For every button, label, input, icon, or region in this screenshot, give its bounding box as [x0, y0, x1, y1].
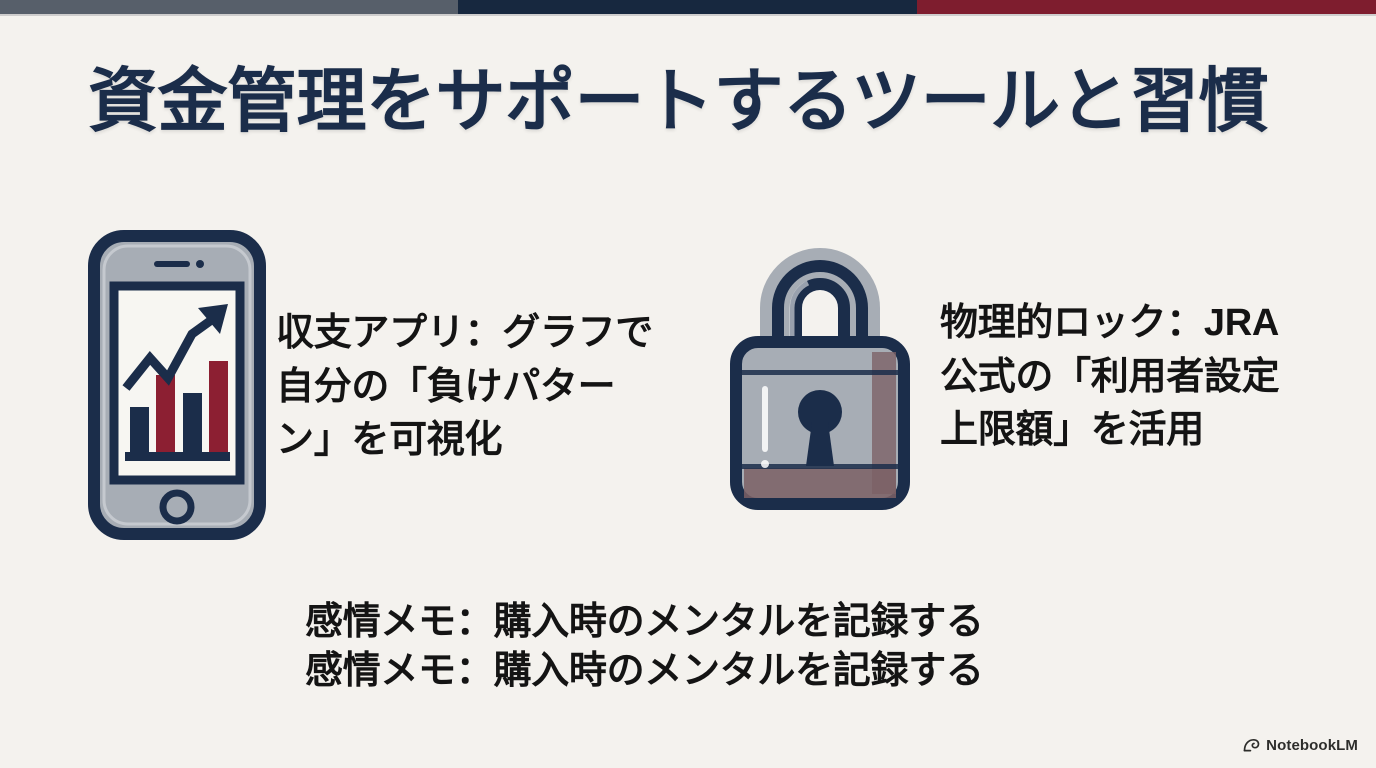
page-title: 資金管理をサポートするツールと習慣 [88, 64, 1308, 138]
top-accent-segment-red [917, 0, 1376, 14]
notes-block: 感情メモ：購入時のメンタルを記録する 感情メモ：購入時のメンタルを記録する [305, 598, 984, 697]
notebooklm-watermark: NotebookLM [1243, 737, 1358, 754]
top-accent-segment-navy [458, 0, 917, 14]
content-item-app: 収支アプリ：グラフで自分の「負けパターン」を可視化 [88, 230, 666, 545]
top-accent-bar [0, 0, 1376, 14]
notebooklm-spiral-icon [1243, 738, 1260, 753]
note-line-1: 感情メモ：購入時のメンタルを記録する [305, 598, 984, 647]
content-item-lock-text: 物理的ロック：JRA公式の「利用者設定上限額」を活用 [940, 297, 1290, 459]
slide-root: 資金管理をサポートするツールと習慣 [0, 0, 1376, 768]
top-accent-segment-gray [0, 0, 458, 14]
content-item-lock: 物理的ロック：JRA公式の「利用者設定上限額」を活用 [720, 230, 1290, 525]
notebooklm-watermark-label: NotebookLM [1266, 737, 1358, 754]
note-line-2: 感情メモ：購入時のメンタルを記録する [305, 647, 984, 696]
content-item-app-text: 収支アプリ：グラフで自分の「負けパターン」を可視化 [276, 307, 666, 469]
padlock-icon [720, 230, 920, 525]
top-accent-underline [0, 14, 1376, 16]
smartphone-chart-icon [88, 230, 266, 545]
